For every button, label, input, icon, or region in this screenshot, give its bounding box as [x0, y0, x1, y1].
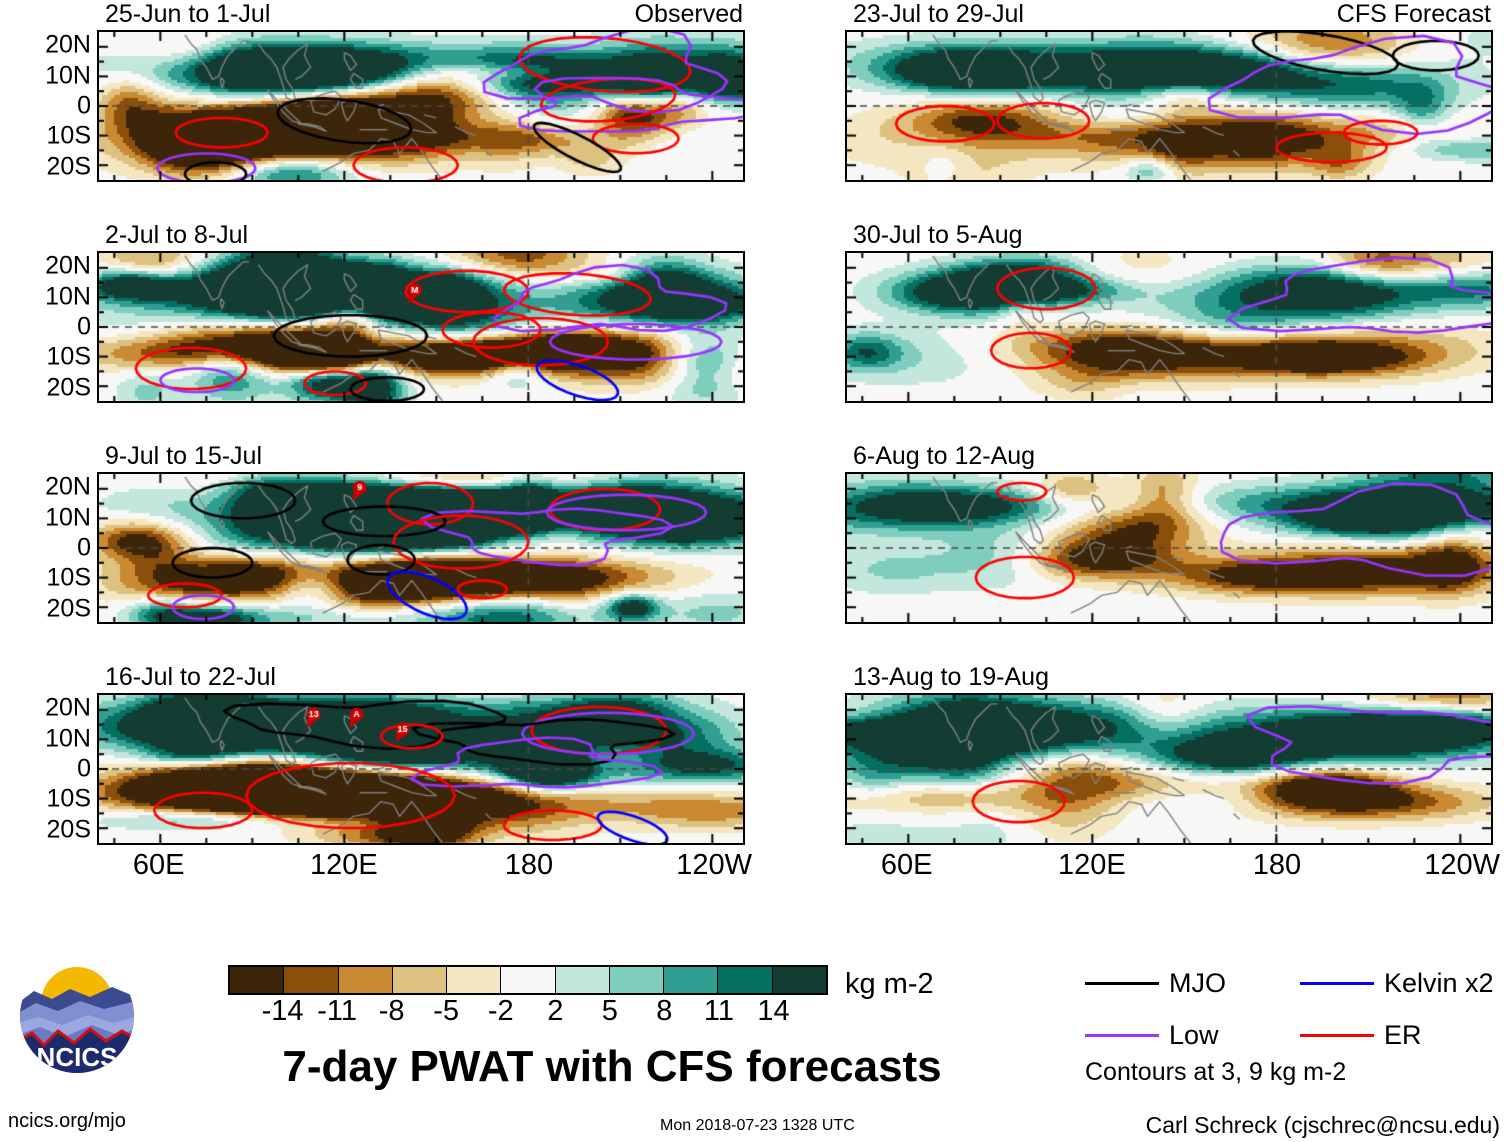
panel-title-obs-2: 2-Jul to 8-Jul	[105, 223, 248, 248]
y-tick-20S: 20S	[47, 596, 91, 621]
timestamp-text: Mon 2018-07-23 1328 UTC	[660, 1117, 855, 1135]
y-tick-0: 0	[77, 315, 91, 340]
colorbar-tick-labels: -14-11-8-5-22581114	[228, 997, 828, 1031]
x-tick-180: 180	[505, 851, 553, 880]
y-tick-0: 0	[77, 536, 91, 561]
plot-canvas-obs-3	[99, 474, 743, 622]
colorbar-units-label: kg m-2	[845, 968, 934, 1001]
legend-swatch-line-icon	[1300, 982, 1374, 985]
column-header-observed: Observed	[635, 2, 743, 27]
panel-obs-2: 2-Jul to 8-Jul20N10N010S20S	[97, 251, 745, 403]
panel-title-fcst-1: 23-Jul to 29-Jul	[853, 2, 1024, 27]
credit-text: Carl Schreck (cjschrec@ncsu.edu)	[1146, 1112, 1500, 1139]
colorbar-tick-2: 2	[547, 997, 563, 1026]
panel-fcst-4: 13-Aug to 19-Aug60E120E180120W	[845, 693, 1493, 845]
plot-area-fcst-4	[845, 693, 1493, 845]
panel-fcst-3: 6-Aug to 12-Aug	[845, 472, 1493, 624]
plot-area-obs-1	[97, 30, 745, 182]
y-tick-20N: 20N	[45, 254, 91, 279]
legend-swatch-line-icon	[1300, 1034, 1374, 1037]
colorbar-swatch-1	[283, 967, 337, 993]
panel-obs-3: 9-Jul to 15-Jul20N10N010S20S	[97, 472, 745, 624]
y-tick-20N: 20N	[45, 33, 91, 58]
panel-title-obs-3: 9-Jul to 15-Jul	[105, 444, 262, 469]
colorbar-tick--5: -5	[433, 997, 459, 1026]
logo-text: NCICS	[37, 1042, 118, 1072]
y-axis-labels-obs-3: 20N10N010S20S	[0, 472, 91, 624]
panel-obs-4: 16-Jul to 22-Jul20N10N010S20S60E120E1801…	[97, 693, 745, 845]
plot-canvas-obs-2	[99, 253, 743, 401]
legend-swatch-line-icon	[1085, 982, 1159, 985]
main-title: 7-day PWAT with CFS forecasts	[232, 1042, 992, 1092]
column-header-cfs-forecast: CFS Forecast	[1337, 2, 1491, 27]
plot-canvas-fcst-1	[847, 32, 1491, 180]
y-axis-labels-obs-2: 20N10N010S20S	[0, 251, 91, 403]
x-tick-120W: 120W	[1424, 851, 1500, 880]
y-axis-labels-obs-4: 20N10N010S20S	[0, 693, 91, 845]
y-tick-10S: 10S	[47, 345, 91, 370]
panel-obs-1: 25-Jun to 1-JulObserved20N10N010S20S	[97, 30, 745, 182]
colorbar-swatch-0	[230, 967, 283, 993]
plot-area-obs-2	[97, 251, 745, 403]
colorbar-tick-11: 11	[704, 997, 734, 1026]
colorbar: -14-11-8-5-22581114	[228, 965, 828, 995]
colorbar-swatch-2	[338, 967, 392, 993]
colorbar-tick--11: -11	[317, 997, 357, 1026]
y-tick-20S: 20S	[47, 817, 91, 842]
figure-root: 25-Jun to 1-JulObserved20N10N010S20S2-Ju…	[0, 0, 1510, 1142]
y-tick-10S: 10S	[47, 124, 91, 149]
plot-area-obs-4	[97, 693, 745, 845]
plot-area-obs-3	[97, 472, 745, 624]
x-tick-60E: 60E	[133, 851, 185, 880]
panel-title-fcst-4: 13-Aug to 19-Aug	[853, 665, 1049, 690]
y-axis-labels-obs-1: 20N10N010S20S	[0, 30, 91, 182]
colorbar-tick--14: -14	[262, 997, 304, 1026]
legend-item-er: ER	[1300, 1022, 1422, 1049]
panel-title-obs-4: 16-Jul to 22-Jul	[105, 665, 276, 690]
colorbar-swatch-8	[663, 967, 717, 993]
y-tick-20N: 20N	[45, 696, 91, 721]
panel-fcst-1: 23-Jul to 29-JulCFS Forecast	[845, 30, 1493, 182]
colorbar-swatch-5	[500, 967, 554, 993]
colorbar-tick-8: 8	[656, 997, 672, 1026]
x-tick-120E: 120E	[1058, 851, 1126, 880]
plot-canvas-fcst-2	[847, 253, 1491, 401]
colorbar-swatch-9	[717, 967, 771, 993]
legend-swatch-line-icon	[1085, 1034, 1159, 1037]
panel-title-obs-1: 25-Jun to 1-Jul	[105, 2, 270, 27]
plot-area-fcst-1	[845, 30, 1493, 182]
panel-title-fcst-2: 30-Jul to 5-Aug	[853, 223, 1023, 248]
colorbar-tick-14: 14	[757, 997, 789, 1026]
y-tick-20S: 20S	[47, 154, 91, 179]
x-tick-60E: 60E	[881, 851, 933, 880]
plot-area-fcst-2	[845, 251, 1493, 403]
panel-fcst-2: 30-Jul to 5-Aug	[845, 251, 1493, 403]
plot-canvas-obs-4	[99, 695, 743, 843]
y-tick-0: 0	[77, 757, 91, 782]
colorbar-tick--2: -2	[488, 997, 514, 1026]
legend-label: Kelvin x2	[1384, 970, 1494, 997]
plot-canvas-fcst-4	[847, 695, 1491, 843]
y-tick-20S: 20S	[47, 375, 91, 400]
y-tick-10N: 10N	[45, 284, 91, 309]
y-tick-10N: 10N	[45, 726, 91, 751]
colorbar-swatch-4	[446, 967, 500, 993]
contour-legend-note: Contours at 3, 9 kg m-2	[1085, 1058, 1346, 1087]
legend-label: MJO	[1169, 970, 1226, 997]
x-tick-120E: 120E	[310, 851, 378, 880]
y-tick-10N: 10N	[45, 63, 91, 88]
panel-title-fcst-3: 6-Aug to 12-Aug	[853, 444, 1035, 469]
logo-url-text: ncics.org/mjo	[8, 1110, 126, 1133]
legend-item-low: Low	[1085, 1022, 1219, 1049]
colorbar-swatch-6	[555, 967, 609, 993]
colorbar-swatch-3	[392, 967, 446, 993]
y-tick-10S: 10S	[47, 787, 91, 812]
plot-canvas-fcst-3	[847, 474, 1491, 622]
plot-area-fcst-3	[845, 472, 1493, 624]
y-tick-0: 0	[77, 94, 91, 119]
y-tick-10S: 10S	[47, 566, 91, 591]
colorbar-swatches	[228, 965, 828, 995]
y-tick-10N: 10N	[45, 505, 91, 530]
colorbar-tick--8: -8	[379, 997, 405, 1026]
legend-item-mjo: MJO	[1085, 970, 1226, 997]
y-tick-20N: 20N	[45, 475, 91, 500]
x-tick-180: 180	[1253, 851, 1301, 880]
plot-canvas-obs-1	[99, 32, 743, 180]
colorbar-swatch-10	[772, 967, 826, 993]
colorbar-swatch-7	[609, 967, 663, 993]
colorbar-tick-5: 5	[602, 997, 618, 1026]
x-tick-120W: 120W	[676, 851, 752, 880]
legend-label: ER	[1384, 1022, 1422, 1049]
legend-label: Low	[1169, 1022, 1219, 1049]
legend-item-kelvin-x2: Kelvin x2	[1300, 970, 1494, 997]
ncics-logo: NCICS	[18, 957, 136, 1075]
